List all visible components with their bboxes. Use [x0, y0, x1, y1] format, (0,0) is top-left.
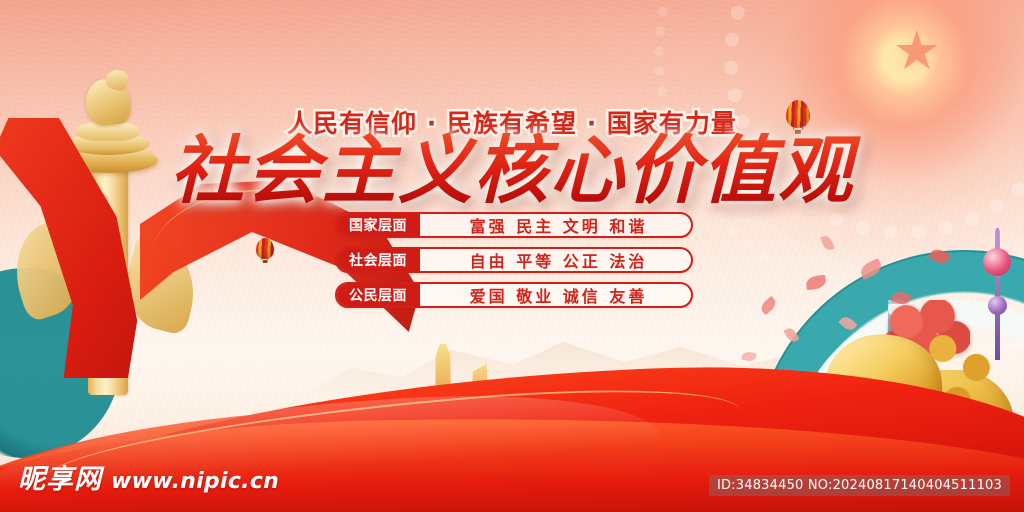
asset-id-watermark: ID:34834450 NO:20240817140404511103	[709, 475, 1010, 496]
value-row[interactable]: 国家层面富强 民主 文明 和谐	[335, 212, 693, 238]
value-row-text: 自由 平等 公正 法治	[420, 249, 691, 271]
value-row-tag: 国家层面	[336, 213, 420, 237]
core-values-list: 国家层面富强 民主 文明 和谐社会层面自由 平等 公正 法治公民层面爱国 敬业 …	[335, 212, 693, 308]
value-row[interactable]: 公民层面爱国 敬业 诚信 友善	[335, 282, 693, 308]
value-row-text: 富强 民主 文明 和谐	[420, 214, 691, 236]
value-row-text: 爱国 敬业 诚信 友善	[420, 284, 691, 306]
poster-content: 人民有信仰 · 民族有希望 · 国家有力量 社会主义核心价值观 国家层面富强 民…	[0, 0, 1024, 512]
site-watermark: 昵享网 www.nipic.cn	[18, 457, 279, 496]
value-row-tag: 公民层面	[336, 283, 420, 307]
page-title: 社会主义核心价值观	[0, 133, 1024, 211]
value-row-tag: 社会层面	[336, 248, 420, 272]
value-row[interactable]: 社会层面自由 平等 公正 法治	[335, 247, 693, 273]
site-url-text: www.nipic.cn	[111, 469, 279, 494]
poster-canvas: 人民有信仰 · 民族有希望 · 国家有力量 社会主义核心价值观 国家层面富强 民…	[0, 0, 1024, 512]
site-logo-text: 昵享网	[18, 457, 102, 496]
